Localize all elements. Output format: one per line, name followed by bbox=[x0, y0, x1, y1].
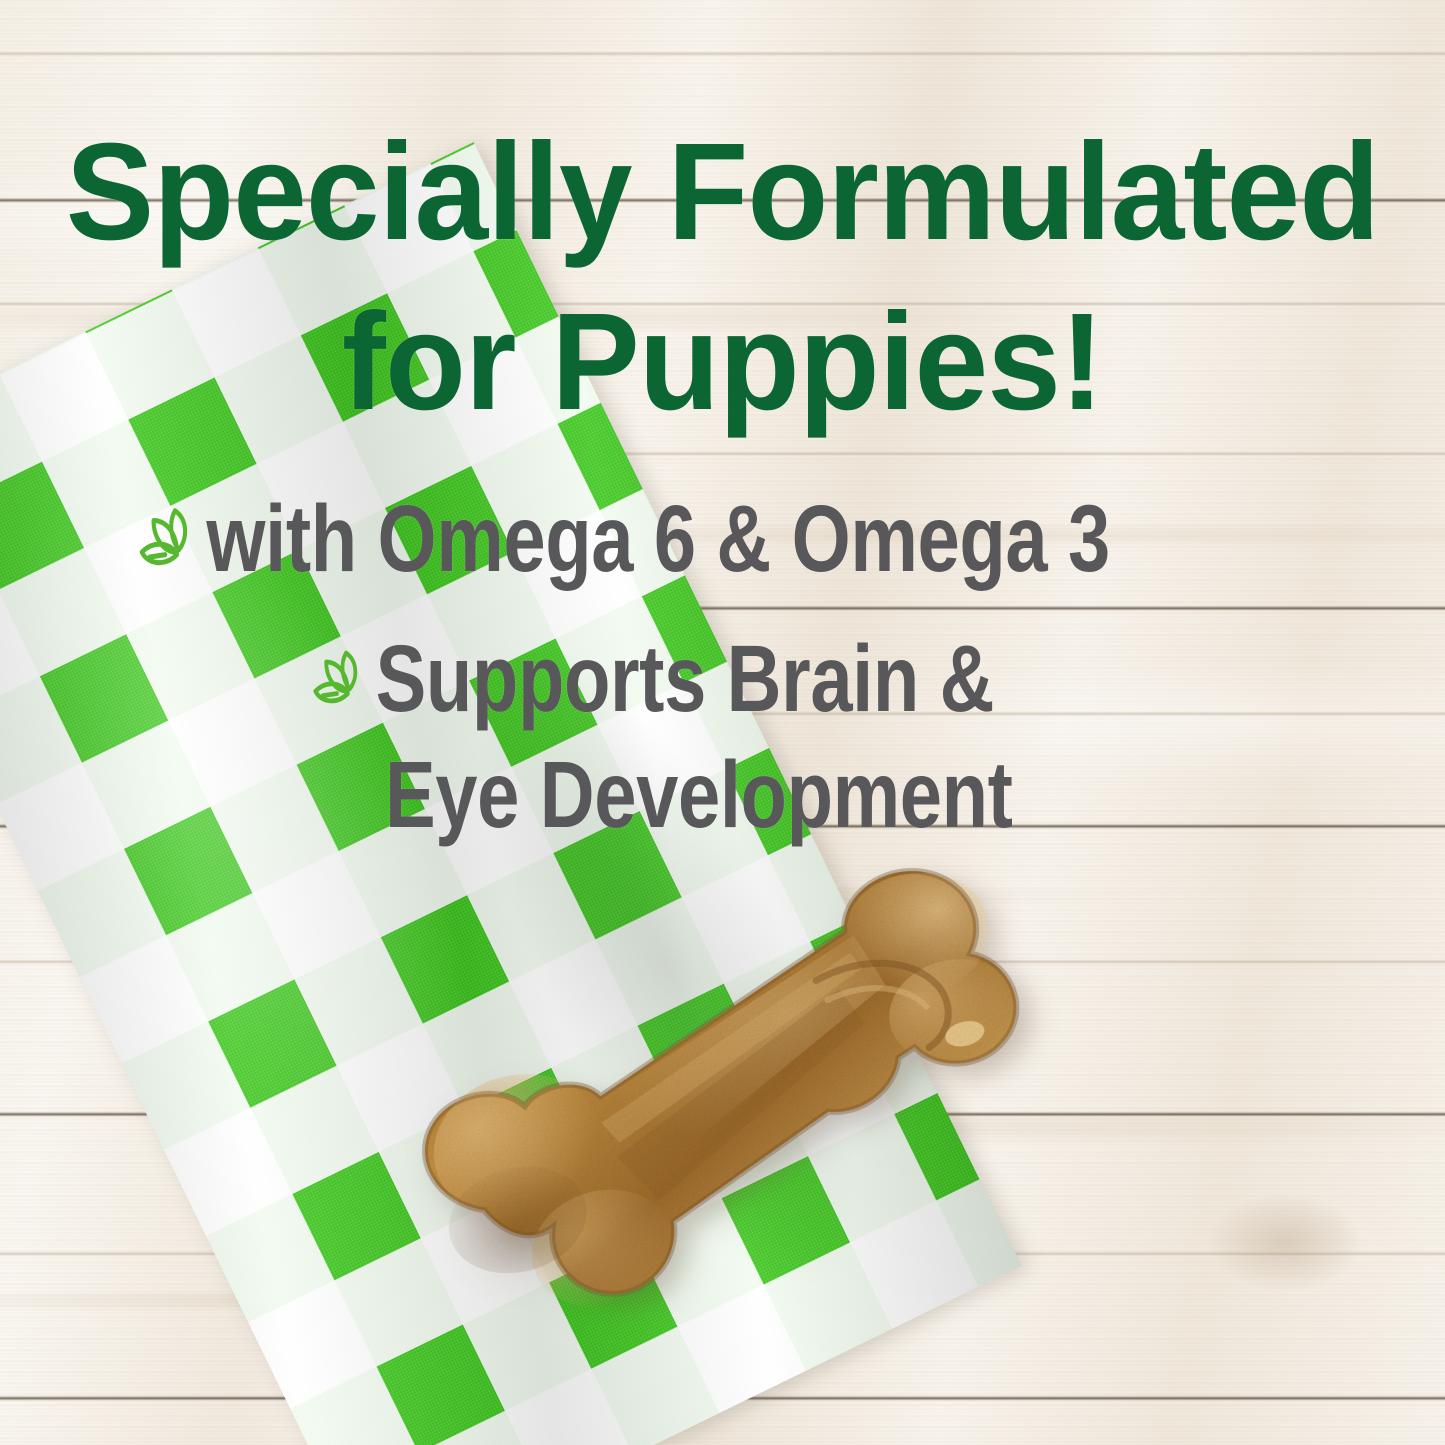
benefit-text-2: Supports Brain & bbox=[376, 632, 995, 727]
promo-image: Specially Formulated for Puppies! with O… bbox=[0, 0, 1445, 1445]
leaf-icon bbox=[310, 644, 368, 716]
wood-knot bbox=[1210, 1195, 1360, 1290]
headline-line-2: for Puppies! bbox=[29, 278, 1416, 446]
benefit-text-1: with Omega 6 & Omega 3 bbox=[206, 492, 1109, 587]
benefit-row-2: Supports Brain & bbox=[310, 632, 994, 727]
leaf-icon bbox=[136, 501, 198, 579]
benefit-row-1: with Omega 6 & Omega 3 bbox=[136, 492, 1110, 587]
plank-seam bbox=[0, 52, 1445, 56]
headline-line-1: Specially Formulated bbox=[29, 108, 1416, 276]
benefit-text-3: Eye Development bbox=[385, 748, 1013, 843]
benefit-row-3: Eye Development bbox=[385, 748, 1013, 843]
